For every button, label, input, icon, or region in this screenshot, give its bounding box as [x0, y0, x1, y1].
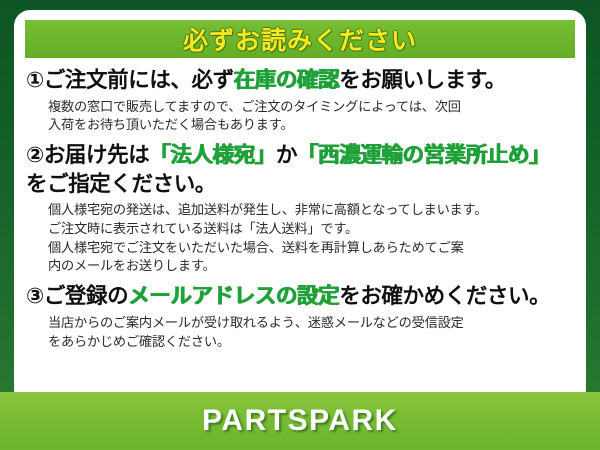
notice-item-1-subline-1: 複数の窓口で販売してますので、ご注文のタイミングによっては、次回	[48, 98, 576, 117]
notice-item-2-subline-1: 個人様宅宛の発送は、追加送料が発生し、非常に高額となってしまいます。	[48, 201, 576, 220]
notice-item-1-accent: 在庫の確認	[234, 68, 340, 92]
notice-item-2-subtext: 個人様宅宛の発送は、追加送料が発生し、非常に高額となってしまいます。 ご注文時に…	[48, 201, 576, 276]
notice-item-3-subline-2: をあらかじめご確認ください。	[48, 333, 576, 352]
notice-item-3-text-after: をお確かめください。	[339, 284, 550, 308]
notice-item-1-text-after: をお願いします。	[339, 68, 506, 92]
notice-item-2-subline-4: 内のメールをお送りします。	[48, 257, 576, 276]
brand-name: PARTSPARK	[202, 404, 398, 438]
notice-item-3-marker: ③	[26, 284, 44, 308]
notice-item-2-text-mid: か	[276, 143, 297, 167]
notice-item-2-text-before: お届け先は	[44, 143, 150, 167]
notice-item-3-text-before: ご登録の	[44, 284, 128, 308]
notice-item-2-accent-1: 「法人様宛」	[149, 143, 276, 167]
notice-item-2-subline-2: ご注文時に表示されている送料は「法人送料」です。	[48, 220, 576, 239]
notice-header-bar: 必ずお読みください	[25, 20, 575, 58]
notice-item-2-subline-3: 個人様宅宛でご注文をいただいた場合、送料を再計算しあらためてご案	[48, 239, 576, 258]
notice-item-2-text-after: をご指定ください。	[26, 172, 216, 196]
notice-item-1-marker: ①	[26, 68, 44, 92]
notice-item-1-subline-2: 入荷をお待ち頂いただく場合もあります。	[48, 116, 576, 135]
brand-footer: PARTSPARK	[0, 392, 600, 450]
page-title: 必ずお読みください	[183, 21, 417, 57]
notice-item-1-subtext: 複数の窓口で販売してますので、ご注文のタイミングによっては、次回 入荷をお待ち頂…	[48, 98, 576, 135]
notice-item-1-text-before: ご注文前には、必ず	[44, 68, 234, 92]
notice-card: 必ずお読みください ①ご注文前には、必ず在庫の確認をお願いします。 複数の窓口で…	[14, 10, 586, 405]
notice-content: ①ご注文前には、必ず在庫の確認をお願いします。 複数の窓口で販売してますので、ご…	[14, 66, 586, 357]
notice-item-3-subtext: 当店からのご案内メールが受け取れるよう、迷惑メールなどの受信設定 をあらかじめご…	[48, 314, 576, 351]
notice-item-3: ③ご登録のメールアドレスの設定をお確かめください。 当店からのご案内メールが受け…	[26, 282, 576, 351]
notice-item-2-headline-line2: をご指定ください。	[26, 170, 576, 199]
notice-item-2-headline-line1: ②お届け先は「法人様宛」か「西濃運輸の営業所止め」	[26, 141, 576, 170]
notice-item-3-accent: メールアドレスの設定	[128, 284, 339, 308]
notice-item-3-subline-1: 当店からのご案内メールが受け取れるよう、迷惑メールなどの受信設定	[48, 314, 576, 333]
notice-banner: 必ずお読みください ①ご注文前には、必ず在庫の確認をお願いします。 複数の窓口で…	[0, 0, 600, 450]
notice-item-2-marker: ②	[26, 143, 44, 167]
notice-item-1-headline: ①ご注文前には、必ず在庫の確認をお願いします。	[26, 66, 576, 95]
notice-item-1: ①ご注文前には、必ず在庫の確認をお願いします。 複数の窓口で販売してますので、ご…	[26, 66, 576, 135]
notice-item-2: ②お届け先は「法人様宛」か「西濃運輸の営業所止め」 をご指定ください。 個人様宅…	[26, 141, 576, 276]
notice-item-2-accent-2: 「西濃運輸の営業所止め」	[297, 143, 550, 167]
notice-item-3-headline: ③ご登録のメールアドレスの設定をお確かめください。	[26, 282, 576, 311]
